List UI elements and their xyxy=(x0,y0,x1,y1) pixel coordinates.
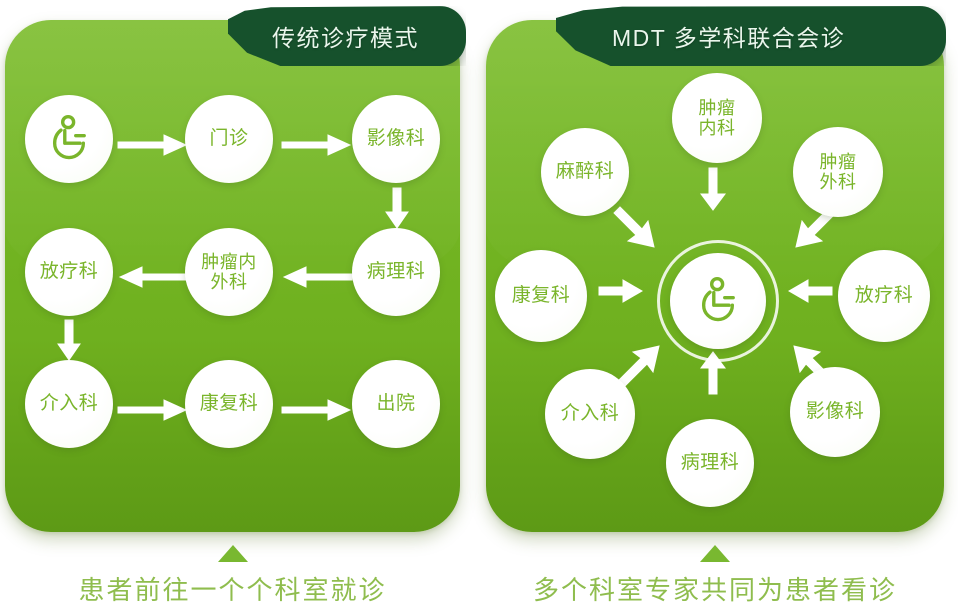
caption-pointer-left-icon xyxy=(218,545,248,562)
arrow-patient-to-outpatient xyxy=(118,133,188,157)
wheelchair-patient-icon xyxy=(42,112,96,166)
arrow-pathology-to-oncology xyxy=(282,265,352,289)
node-label: 放疗科 xyxy=(36,261,103,282)
node-label: 影像科 xyxy=(802,401,869,422)
node-patient[interactable] xyxy=(25,95,113,183)
node-pathology[interactable]: 病理科 xyxy=(352,228,440,316)
node-label: 肿瘤 内科 xyxy=(695,98,740,138)
arrow-intervention-to-hub xyxy=(617,338,667,388)
node-intervention-mdt[interactable]: 介入科 xyxy=(545,369,635,459)
wheelchair-patient-icon xyxy=(691,274,745,328)
node-label: 影像科 xyxy=(363,128,430,149)
node-pathology-mdt[interactable]: 病理科 xyxy=(666,419,754,507)
node-rehabilitation[interactable]: 康复科 xyxy=(495,250,587,342)
arrow-oncology-to-radiotherapy xyxy=(118,265,188,289)
node-imaging-mdt[interactable]: 影像科 xyxy=(790,367,880,457)
arrow-imaging-to-pathology xyxy=(385,188,409,230)
node-label: 病理科 xyxy=(677,452,744,473)
hub-inner-circle xyxy=(670,253,766,349)
node-radiotherapy[interactable]: 放疗科 xyxy=(25,228,113,316)
node-rehab[interactable]: 康复科 xyxy=(185,360,273,448)
title-ribbon-traditional: 传统诊疗模式 xyxy=(228,6,466,66)
arrow-anesthesiology-to-hub xyxy=(612,205,662,255)
node-label: 康复科 xyxy=(508,285,575,306)
node-discharge[interactable]: 出院 xyxy=(352,360,440,448)
node-label: 介入科 xyxy=(557,403,624,424)
arrow-rehabilitation-to-hub xyxy=(599,279,643,303)
arrow-rehab-to-discharge xyxy=(282,398,352,422)
node-label: 出院 xyxy=(372,393,419,414)
node-patient-hub[interactable] xyxy=(657,240,779,362)
node-label: 康复科 xyxy=(196,393,263,414)
arrow-intervention-to-rehab xyxy=(118,398,188,422)
arrow-outpatient-to-imaging xyxy=(282,133,352,157)
node-label: 肿瘤内 外科 xyxy=(197,252,261,292)
node-label: 门诊 xyxy=(205,128,252,149)
node-oncology-surgery[interactable]: 肿瘤 外科 xyxy=(793,127,883,217)
arrow-oncology-internal-to-hub xyxy=(700,168,726,212)
node-intervention[interactable]: 介入科 xyxy=(25,360,113,448)
arrow-radiotherapy-to-intervention xyxy=(57,320,81,362)
node-oncology-internal[interactable]: 肿瘤 内科 xyxy=(672,73,762,163)
node-label: 病理科 xyxy=(363,261,430,282)
node-outpatient[interactable]: 门诊 xyxy=(185,95,273,183)
node-imaging[interactable]: 影像科 xyxy=(352,95,440,183)
arrow-radiotherapy-to-hub xyxy=(788,279,832,303)
node-radiotherapy-mdt[interactable]: 放疗科 xyxy=(838,250,930,342)
node-anesthesiology[interactable]: 麻醉科 xyxy=(541,128,629,216)
panel-title-mdt: MDT 多学科联合会诊 xyxy=(612,19,845,53)
node-label: 麻醉科 xyxy=(552,161,619,182)
caption-pointer-right-icon xyxy=(700,545,730,562)
node-label: 肿瘤 外科 xyxy=(816,152,861,192)
caption-mdt: 多个科室专家共同为患者看诊 xyxy=(486,570,944,607)
infographic-stage: 传统诊疗模式 门诊 影像科 xyxy=(0,0,958,611)
caption-traditional: 患者前往一个个科室就诊 xyxy=(5,570,460,607)
panel-title-traditional: 传统诊疗模式 xyxy=(272,19,419,53)
node-label: 放疗科 xyxy=(851,285,918,306)
node-oncology-med-surg[interactable]: 肿瘤内 外科 xyxy=(185,228,273,316)
node-label: 介入科 xyxy=(36,393,103,414)
title-ribbon-mdt: MDT 多学科联合会诊 xyxy=(556,6,946,66)
